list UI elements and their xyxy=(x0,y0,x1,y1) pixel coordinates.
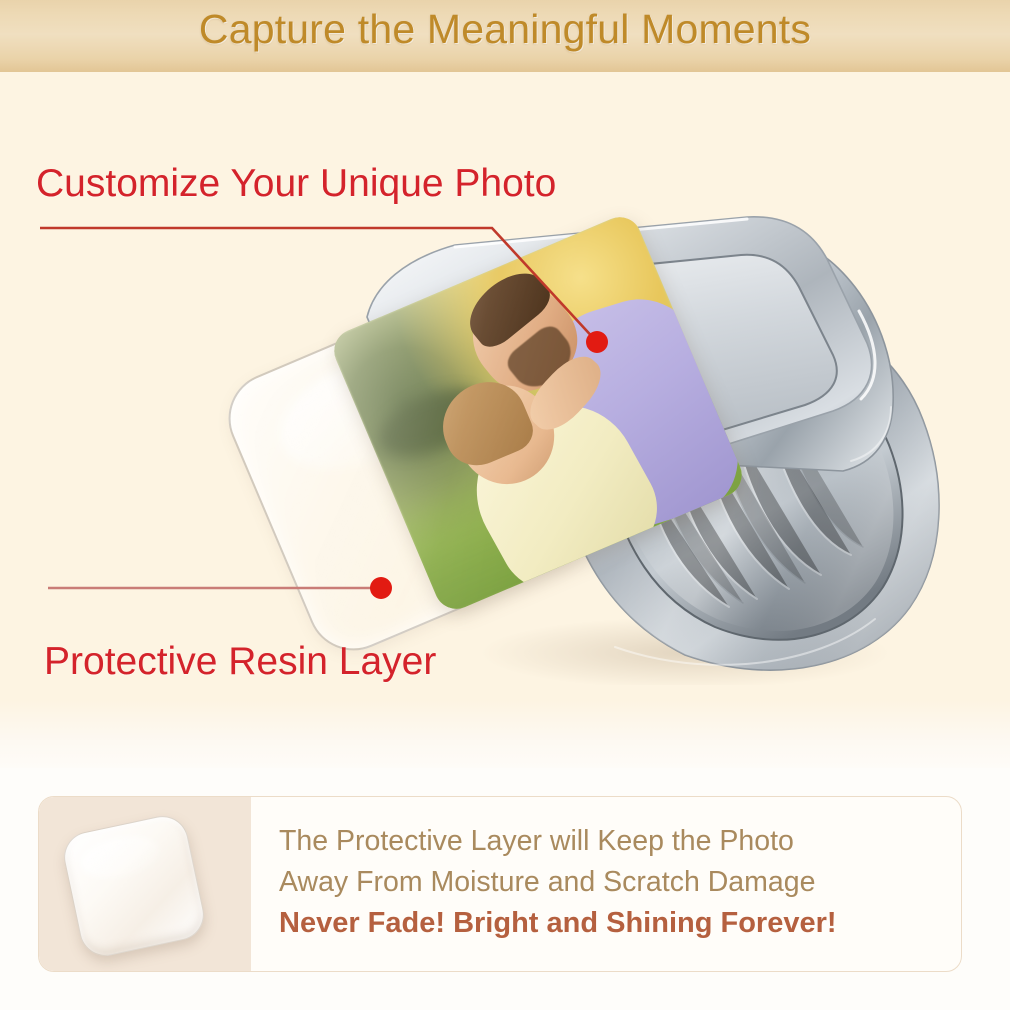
stage-bottom-fade xyxy=(0,700,1010,770)
info-panel-text: The Protective Layer will Keep the Photo… xyxy=(279,821,949,944)
chip-gloss-highlight xyxy=(78,831,163,884)
chip-thumbnail-pane xyxy=(39,797,251,971)
callout-label-customize-photo: Customize Your Unique Photo xyxy=(36,162,556,206)
info-line-3-accent: Never Fade! Bright and Shining Forever! xyxy=(279,903,949,944)
info-line-1: The Protective Layer will Keep the Photo xyxy=(279,821,949,862)
info-panel: The Protective Layer will Keep the Photo… xyxy=(38,796,962,972)
header-banner: Capture the Meaningful Moments xyxy=(0,0,1010,72)
ring-assembly xyxy=(255,215,955,685)
callout-label-protective-resin: Protective Resin Layer xyxy=(44,640,436,684)
product-infographic: Capture the Meaningful Moments xyxy=(0,0,1010,1010)
page-title: Capture the Meaningful Moments xyxy=(0,6,1010,53)
resin-chip-thumbnail xyxy=(59,811,208,960)
info-line-2: Away From Moisture and Scratch Damage xyxy=(279,862,949,903)
